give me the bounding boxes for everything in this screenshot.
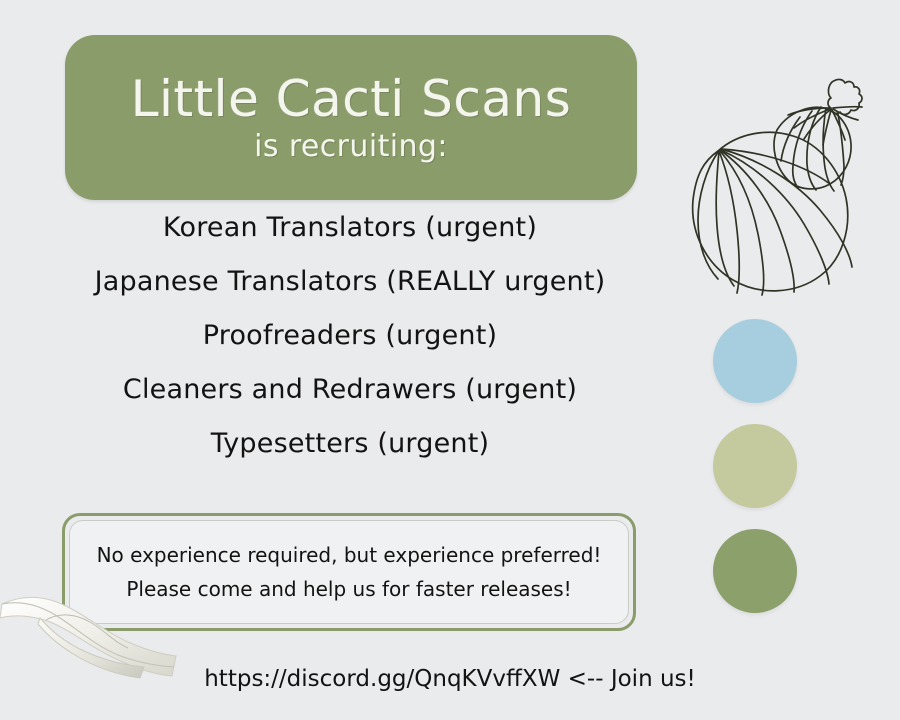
roles-list: Korean Translators (urgent) Japanese Tra… [40,214,660,457]
palette-swatch-light-blue [713,319,797,403]
recruitment-poster: Little Cacti Scans is recruiting: Korean… [0,0,900,720]
ribbon-icon [0,560,184,680]
list-item: Japanese Translators (REALLY urgent) [95,268,606,295]
page-title: Little Cacti Scans [131,73,572,126]
page-subtitle: is recruiting: [254,131,448,163]
list-item: Proofreaders (urgent) [203,322,497,349]
palette-swatch-pale-sage [713,424,797,508]
header-banner: Little Cacti Scans is recruiting: [65,35,637,200]
palette-swatch-sage-green [713,529,797,613]
cactus-icon [660,48,885,303]
list-item: Korean Translators (urgent) [163,214,537,241]
list-item: Cleaners and Redrawers (urgent) [123,376,577,403]
note-line-2: Please come and help us for faster relea… [126,579,571,599]
list-item: Typesetters (urgent) [211,430,489,457]
